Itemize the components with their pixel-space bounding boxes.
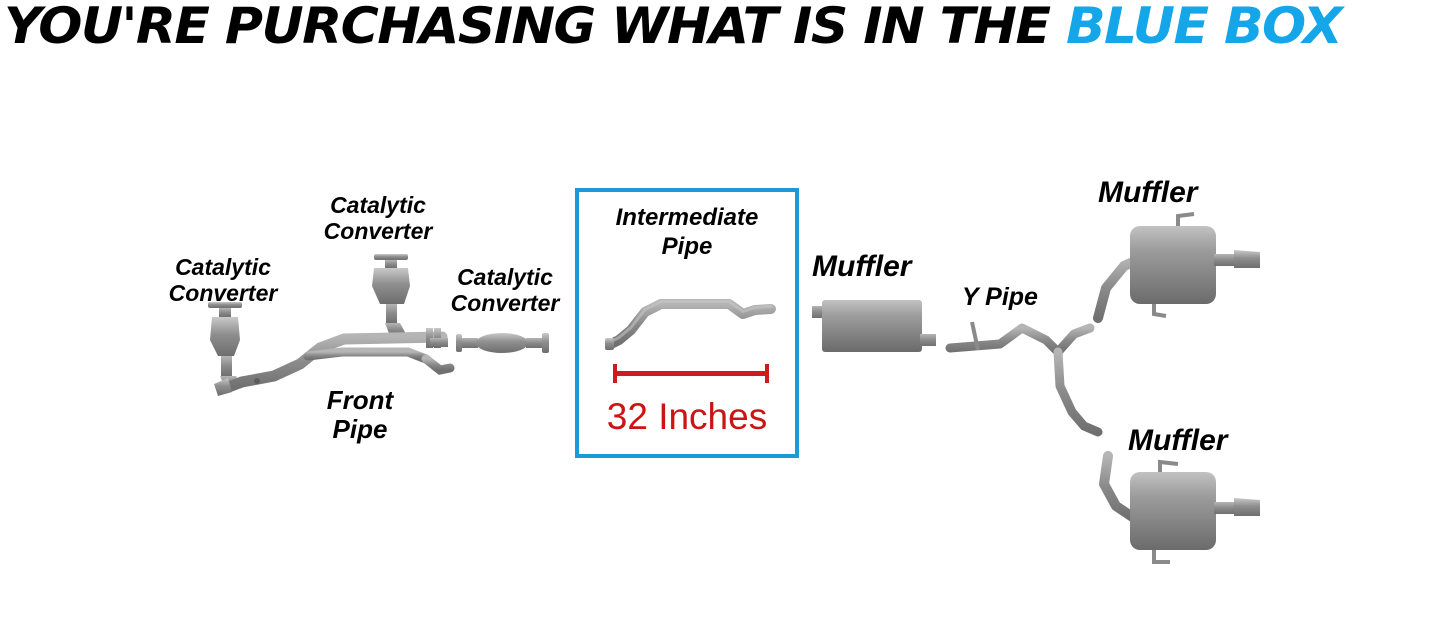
header-banner: YOU'RE PURCHASING WHAT IS IN THE BLUE BO…	[0, 0, 1445, 58]
muffler-bottom-right-graphic	[1090, 448, 1280, 568]
muffler-center-graphic	[812, 294, 938, 360]
dimension-line-bar	[613, 371, 769, 376]
dimension-line	[613, 364, 769, 382]
label-catalytic-converter-right: Catalytic Converter	[430, 265, 580, 317]
label-intermediate-pipe: Intermediate Pipe	[579, 204, 795, 262]
muffler-top-right-graphic	[1090, 210, 1280, 330]
label-catalytic-converter-middle: Catalytic Converter	[303, 193, 453, 245]
page-title-blue: BLUE BOX	[1066, 0, 1341, 55]
dimension-cap-left	[613, 364, 617, 383]
label-muffler-center: Muffler	[812, 250, 952, 284]
page-title-black: YOU'RE PURCHASING WHAT IS IN THE	[4, 0, 1049, 55]
dimension-label: 32 Inches	[575, 396, 799, 438]
y-pipe-graphic	[948, 300, 1108, 460]
intermediate-pipe-graphic	[605, 290, 777, 352]
catalytic-converter-right-graphic	[430, 326, 560, 360]
dimension-cap-right	[765, 364, 769, 383]
label-muffler-top-right: Muffler	[1098, 176, 1238, 210]
label-catalytic-converter-left: Catalytic Converter	[148, 255, 298, 307]
page-title: YOU'RE PURCHASING WHAT IS IN THE BLUE BO…	[4, 0, 1341, 54]
